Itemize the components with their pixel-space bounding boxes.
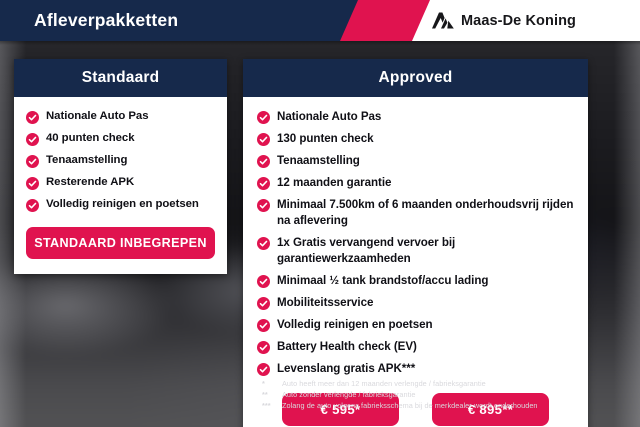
feature-label: Nationale Auto Pas — [46, 109, 148, 124]
footnote-text: Zolang de auto volgens fabrieksschema bi… — [282, 400, 538, 411]
standaard-included-button[interactable]: STANDAARD INBEGREPEN — [26, 227, 215, 259]
card-body-standaard: Nationale Auto Pas 40 punten check Tenaa… — [14, 97, 227, 274]
footnote-text: Auto zonder verlengde / fabrieksgarantie — [282, 389, 415, 400]
feature-label: Nationale Auto Pas — [277, 109, 381, 125]
feature-label: Tenaamstelling — [46, 153, 127, 168]
standaard-button-row: STANDAARD INBEGREPEN — [14, 219, 227, 261]
feature-item: Resterende APK — [14, 175, 227, 190]
check-circle-icon — [26, 133, 39, 146]
feature-item: Tenaamstelling — [14, 153, 227, 168]
feature-item: Volledig reinigen en poetsen — [243, 317, 588, 333]
feature-label: Mobiliteitsservice — [277, 295, 373, 311]
footnote-mark: ** — [262, 389, 278, 400]
feature-item: 12 maanden garantie — [243, 175, 588, 191]
feature-list-standaard: Nationale Auto Pas 40 punten check Tenaa… — [14, 109, 227, 212]
feature-label: Volledig reinigen en poetsen — [46, 197, 199, 212]
card-header-standaard: Standaard — [14, 59, 227, 97]
footnote-text: Auto heeft meer dan 12 maanden verlengde… — [282, 378, 486, 389]
footnote-mark: * — [262, 378, 278, 389]
brand-lockup: Maas-De Koning — [432, 0, 576, 41]
feature-item: Mobiliteitsservice — [243, 295, 588, 311]
feature-label: Minimaal ½ tank brandstof/accu lading — [277, 273, 488, 289]
page-header: Afleverpakketten Maas-De Koning — [0, 0, 640, 41]
feature-item: 40 punten check — [14, 131, 227, 146]
check-circle-icon — [257, 341, 270, 354]
check-circle-icon — [257, 319, 270, 332]
feature-item: Nationale Auto Pas — [243, 109, 588, 125]
feature-item: Minimaal 7.500km of 6 maanden onderhouds… — [243, 197, 588, 229]
package-card-standaard: Standaard Nationale Auto Pas 40 punten c — [14, 59, 227, 274]
footnote-item: ** Auto zonder verlengde / fabrieksgaran… — [262, 389, 592, 400]
check-circle-icon — [257, 133, 270, 146]
package-card-approved: Approved Nationale Auto Pas 130 punten c — [243, 59, 588, 427]
delivery-packages-slide: Afleverpakketten Maas-De Koning Standaar… — [0, 0, 640, 427]
feature-item: 1x Gratis vervangend vervoer bij garanti… — [243, 235, 588, 267]
feature-list-approved: Nationale Auto Pas 130 punten check Tena… — [243, 109, 588, 377]
check-circle-icon — [257, 155, 270, 168]
footnote-item: * Auto heeft meer dan 12 maanden verleng… — [262, 378, 592, 389]
feature-label: Minimaal 7.500km of 6 maanden onderhouds… — [277, 197, 574, 229]
feature-item: Tenaamstelling — [243, 153, 588, 169]
footnote-item: *** Zolang de auto volgens fabrieksschem… — [262, 400, 592, 411]
feature-label: Battery Health check (EV) — [277, 339, 417, 355]
footnotes: * Auto heeft meer dan 12 maanden verleng… — [262, 378, 592, 411]
feature-label: 40 punten check — [46, 131, 135, 146]
check-circle-icon — [257, 111, 270, 124]
card-title-standaard: Standaard — [82, 69, 160, 87]
feature-label: Resterende APK — [46, 175, 134, 190]
feature-label: Levenslang gratis APK*** — [277, 361, 415, 377]
feature-item: 130 punten check — [243, 131, 588, 147]
feature-item: Levenslang gratis APK*** — [243, 361, 588, 377]
check-circle-icon — [26, 111, 39, 124]
feature-label: 12 maanden garantie — [277, 175, 391, 191]
maas-de-koning-m-mark-icon — [432, 12, 454, 29]
feature-label: 130 punten check — [277, 131, 374, 147]
check-circle-icon — [257, 363, 270, 376]
card-title-approved: Approved — [379, 69, 453, 87]
check-circle-icon — [26, 155, 39, 168]
check-circle-icon — [257, 275, 270, 288]
header-shadow — [0, 41, 640, 45]
check-circle-icon — [257, 297, 270, 310]
footnote-mark: *** — [262, 400, 278, 411]
check-circle-icon — [26, 177, 39, 190]
check-circle-icon — [257, 199, 270, 212]
feature-item: Nationale Auto Pas — [14, 109, 227, 124]
feature-label: 1x Gratis vervangend vervoer bij garanti… — [277, 235, 574, 267]
feature-label: Tenaamstelling — [277, 153, 360, 169]
feature-item: Volledig reinigen en poetsen — [14, 197, 227, 212]
page-title: Afleverpakketten — [34, 0, 178, 41]
feature-item: Battery Health check (EV) — [243, 339, 588, 355]
check-circle-icon — [257, 237, 270, 250]
check-circle-icon — [26, 199, 39, 212]
feature-item: Minimaal ½ tank brandstof/accu lading — [243, 273, 588, 289]
check-circle-icon — [257, 177, 270, 190]
card-header-approved: Approved — [243, 59, 588, 97]
brand-name: Maas-De Koning — [461, 13, 576, 29]
feature-label: Volledig reinigen en poetsen — [277, 317, 433, 333]
